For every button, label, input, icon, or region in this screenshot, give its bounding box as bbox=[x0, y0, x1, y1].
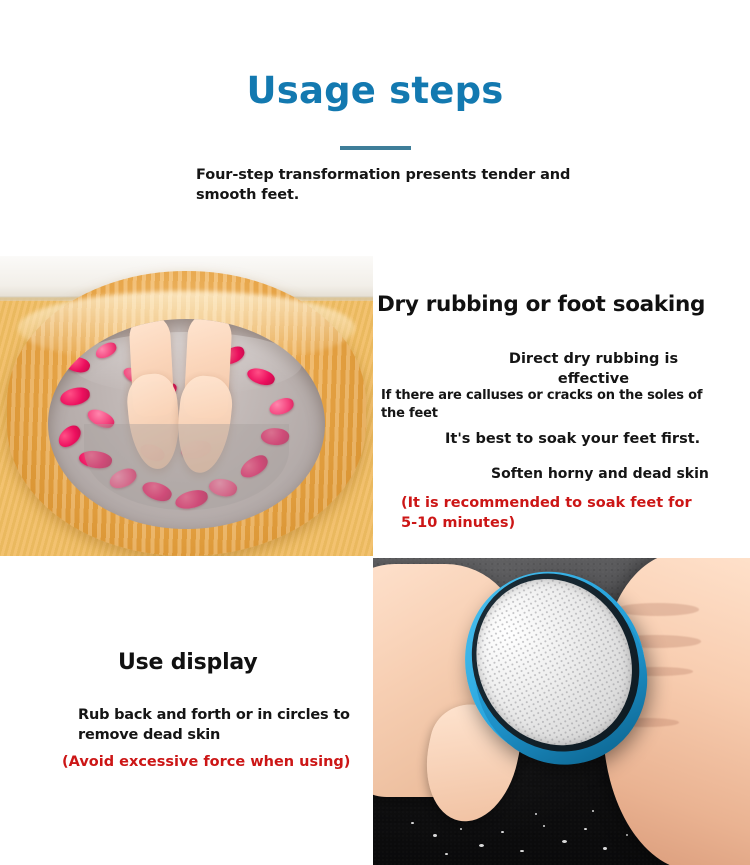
rose-petal bbox=[268, 396, 296, 416]
basin-water bbox=[48, 319, 324, 529]
use-display-text-panel: Use display Rub back and forth or in cir… bbox=[0, 556, 373, 865]
dead-skin-dust bbox=[592, 810, 594, 812]
heel-crease bbox=[616, 603, 699, 616]
dead-skin-dust bbox=[479, 844, 484, 847]
soaking-text-panel: Dry rubbing or foot soaking Direct dry r… bbox=[373, 256, 750, 556]
soaking-note: (It is recommended to soak feet for 5-10… bbox=[401, 494, 701, 533]
rose-petal bbox=[54, 423, 84, 451]
use-display-line-1: Rub back and forth or in circles to remo… bbox=[78, 706, 368, 745]
soaking-line-2: If there are calluses or cracks on the s… bbox=[381, 387, 706, 422]
soaking-line-3: It's best to soak your feet first. bbox=[445, 430, 705, 450]
header-subtitle: Four-step transformation presents tender… bbox=[196, 165, 588, 205]
rose-petal bbox=[58, 386, 90, 407]
soaking-line-1: Direct dry rubbing is effective bbox=[491, 350, 696, 389]
soaking-heading: Dry rubbing or foot soaking bbox=[377, 292, 747, 317]
foot-file-photo bbox=[373, 558, 750, 865]
dead-skin-dust bbox=[603, 847, 607, 850]
header-section: Usage steps Four-step transformation pre… bbox=[0, 0, 750, 255]
dead-skin-dust bbox=[535, 813, 537, 815]
foot-soaking-photo bbox=[0, 256, 373, 556]
dead-skin-dust bbox=[543, 825, 545, 827]
product-infographic-page: Usage steps Four-step transformation pre… bbox=[0, 0, 750, 865]
water-overlay bbox=[84, 424, 288, 510]
use-display-note: (Avoid excessive force when using) bbox=[62, 753, 362, 773]
dead-skin-dust bbox=[445, 853, 448, 855]
use-display-heading: Use display bbox=[118, 650, 258, 675]
page-title: Usage steps bbox=[0, 72, 750, 111]
dead-skin-dust bbox=[460, 828, 462, 830]
title-divider bbox=[340, 146, 411, 150]
soaking-line-4: Soften horny and dead skin bbox=[491, 465, 741, 484]
dead-skin-dust bbox=[411, 822, 414, 824]
dead-skin-dust bbox=[520, 850, 524, 852]
